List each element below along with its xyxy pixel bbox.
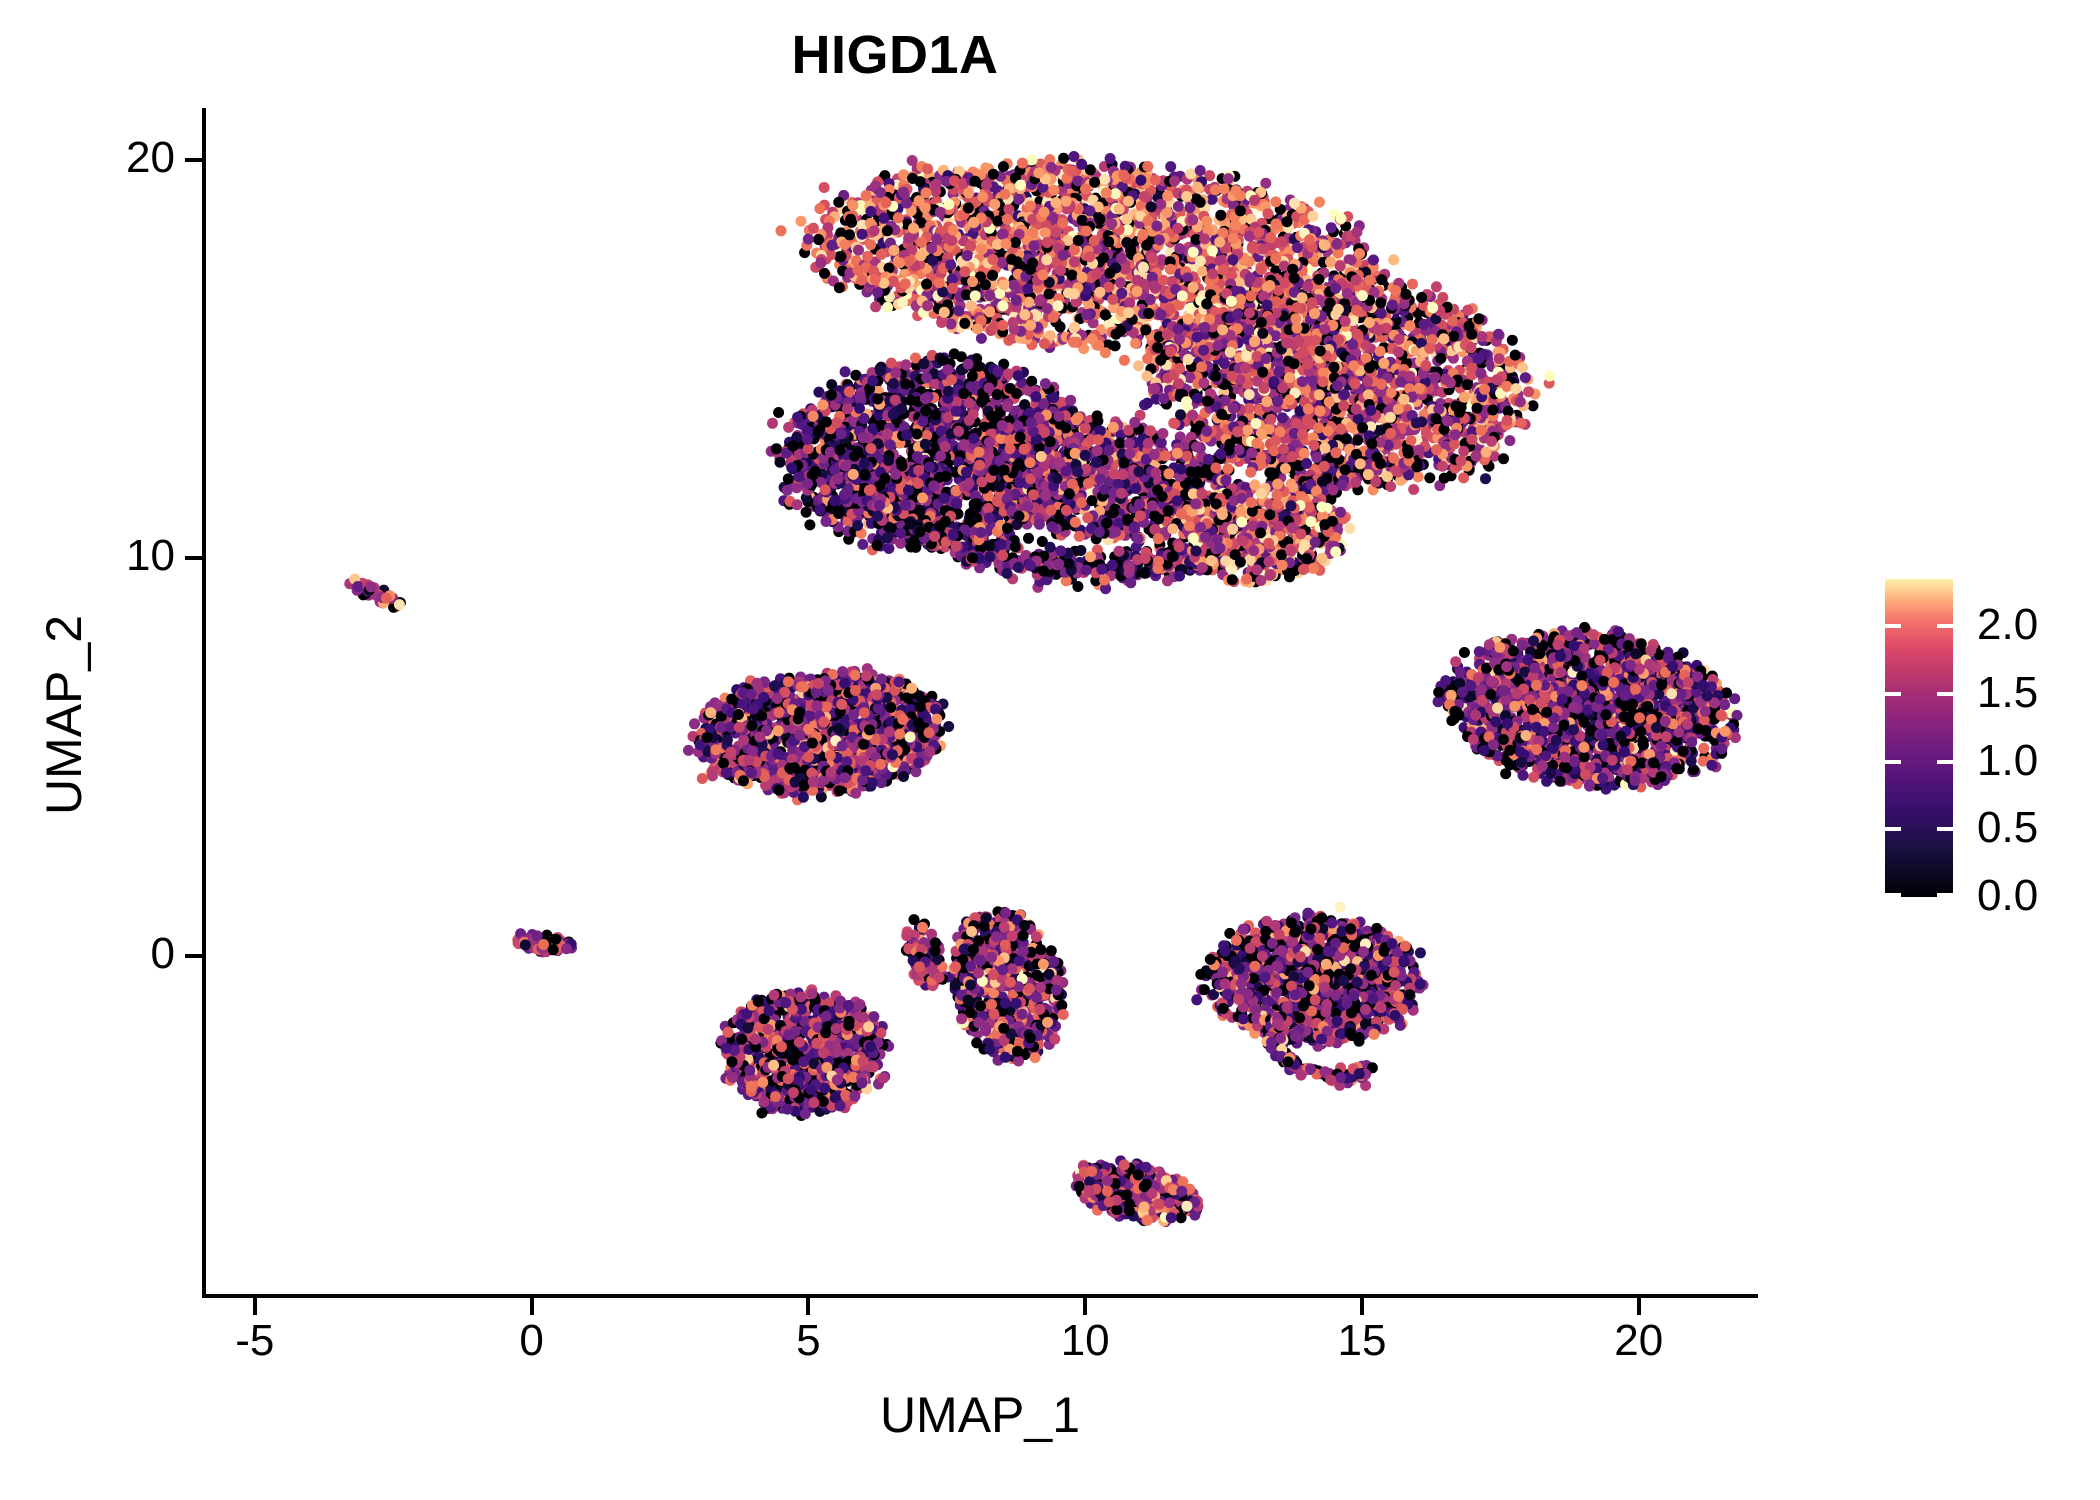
plot-panel (205, 108, 1755, 1295)
feature-plot-root: HIGD1A -505101520 01020 UMAP_1 UMAP_2 0.… (0, 0, 2100, 1500)
page-title: HIGD1A (0, 28, 1790, 82)
